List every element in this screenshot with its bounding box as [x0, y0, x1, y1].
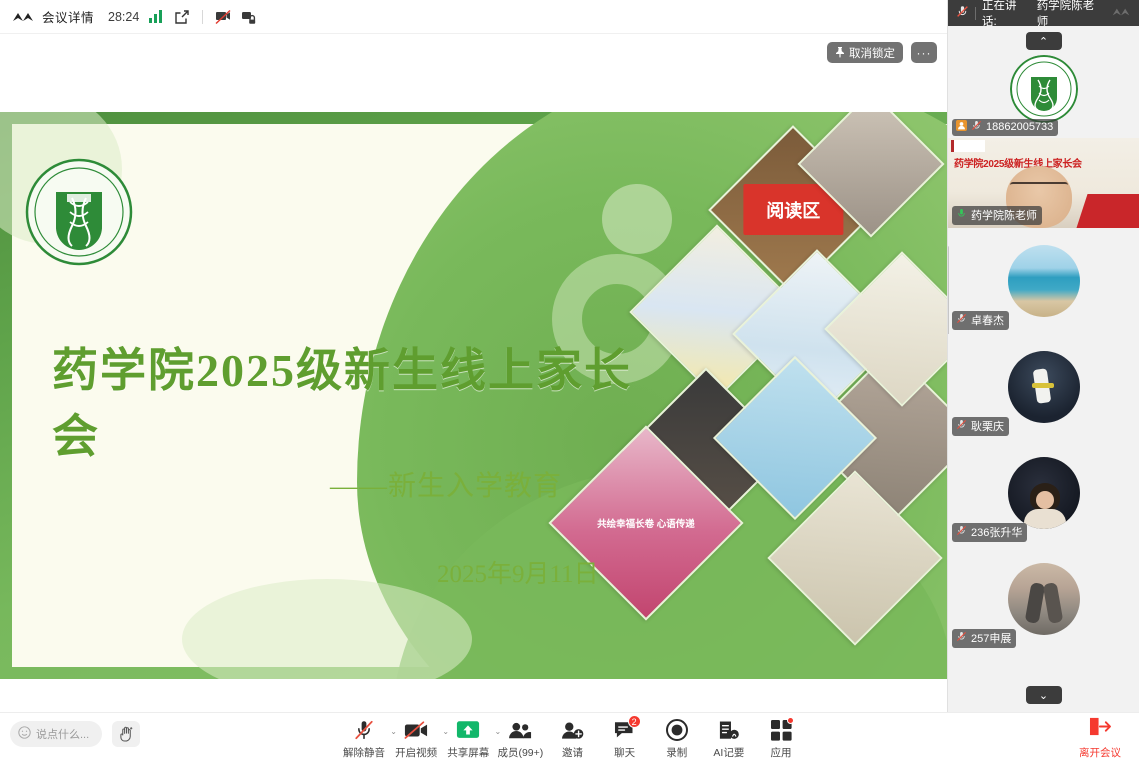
active-speaker-bar: 正在讲话: 药学院陈老师: [948, 0, 1139, 26]
apps-label: 应用: [771, 745, 792, 759]
say-something-placeholder: 说点什么...: [36, 726, 89, 742]
members-icon: [508, 718, 532, 742]
lock-screen-icon[interactable]: [240, 8, 258, 26]
ai-notes-label: AI记要: [713, 745, 744, 759]
mic-muted-icon: [956, 631, 967, 645]
say-something-input[interactable]: 说点什么...: [10, 721, 102, 747]
app-logo-icon: [12, 10, 34, 24]
emoji-icon: [18, 726, 31, 742]
mic-muted-icon: [956, 419, 967, 433]
video-watermark-logo: [951, 140, 985, 152]
martial-arts-avatar-image: [1008, 351, 1080, 423]
pin-icon: [835, 47, 845, 58]
meeting-window: 会议详情 28:24: [0, 0, 1139, 759]
record-icon: [666, 718, 688, 742]
more-options-button[interactable]: ···: [911, 42, 937, 63]
participant-name: 18862005733: [986, 121, 1053, 133]
meeting-timer: 28:24: [108, 10, 139, 24]
participant-tile[interactable]: 卓春杰: [948, 228, 1139, 334]
unmute-button[interactable]: ⌄ 解除静音: [340, 715, 388, 759]
mic-muted-icon: [353, 718, 375, 742]
cancel-lock-button[interactable]: 取消锁定: [827, 42, 903, 63]
chat-badge: 2: [628, 715, 641, 728]
top-bar: 会议详情 28:24: [0, 0, 947, 34]
university-logo-icon: [20, 158, 138, 266]
scroll-down-button[interactable]: ⌄: [1026, 686, 1062, 704]
raise-hand-icon: [119, 726, 134, 742]
participant-name: 药学院陈老师: [971, 207, 1037, 223]
record-button[interactable]: 录制: [653, 715, 701, 759]
avatar: [1008, 351, 1080, 423]
participant-tile[interactable]: 药学院2025级新生线上家长会 药学院陈老师: [948, 138, 1139, 228]
slide-date: 2025年9月11日: [437, 554, 599, 590]
camera-off-icon: [404, 718, 428, 742]
slide-canvas: 药学院2025级新生线上家长会 ——新生入学教育 2025年9月11日 阅读区 …: [12, 124, 947, 667]
banner-caption: 共绘幸福长卷 心语传递: [579, 456, 713, 590]
person-icon: [956, 120, 967, 134]
raise-hand-button[interactable]: [112, 721, 140, 747]
stage-controls: 取消锁定 ···: [827, 42, 937, 63]
leave-meeting-label: 离开会议: [1079, 745, 1121, 759]
meeting-controls: ⌄ 解除静音 ⌄ 开启视频: [340, 715, 805, 759]
mic-muted-small-icon: [956, 5, 969, 21]
invite-label: 邀请: [562, 745, 583, 759]
couple-avatar-image: [1008, 563, 1080, 635]
shared-slide[interactable]: 药学院2025级新生线上家长会 ——新生入学教育 2025年9月11日 阅读区 …: [0, 112, 947, 679]
participant-name: 236张升华: [971, 524, 1022, 540]
speaking-name: 药学院陈老师: [1037, 0, 1105, 29]
speaker-glasses: [1010, 182, 1068, 191]
record-label: 录制: [666, 745, 687, 759]
share-screen-label: 共享屏幕: [447, 745, 489, 759]
participant-name: 卓春杰: [971, 312, 1004, 328]
bottom-toolbar: 说点什么... ⌄ 解除静音: [0, 712, 1139, 759]
start-video-label: 开启视频: [395, 745, 437, 759]
toolbar-divider: [202, 10, 203, 24]
participant-panel: 正在讲话: 药学院陈老师 ⌃ ⌄: [947, 0, 1139, 712]
avatar: [1010, 55, 1078, 123]
apps-button[interactable]: 应用: [757, 715, 805, 759]
apps-notification-dot: [787, 717, 794, 724]
beach-avatar-image: [1008, 245, 1080, 317]
avatar: [1008, 563, 1080, 635]
participant-name-chip: 卓春杰: [952, 311, 1009, 330]
leave-meeting-button[interactable]: 离开会议: [1075, 716, 1125, 759]
ai-notes-icon: [717, 718, 740, 742]
leave-icon: [1088, 716, 1112, 742]
no-record-icon[interactable]: [214, 8, 232, 26]
signal-icon[interactable]: [147, 8, 165, 26]
slide-title: 药学院2025级新生线上家长会: [52, 334, 672, 466]
participant-name-chip: 药学院陈老师: [952, 206, 1042, 225]
slide-subtitle: ——新生入学教育: [330, 464, 562, 504]
speaking-label: 正在讲话:: [982, 0, 1031, 29]
app-logo-small-icon: [1111, 7, 1131, 20]
avatar: [1008, 245, 1080, 317]
participant-name-chip: 耿栗庆: [952, 417, 1009, 436]
participant-name-chip: 236张升华: [952, 523, 1027, 542]
mic-muted-icon: [956, 525, 967, 539]
cancel-lock-label: 取消锁定: [849, 45, 895, 61]
participant-name: 257申展: [971, 630, 1011, 646]
popout-icon[interactable]: [173, 8, 191, 26]
avatar: [1008, 457, 1080, 529]
invite-icon: [561, 718, 584, 742]
participant-name-chip: 18862005733: [952, 119, 1058, 136]
participant-name-chip: 257申展: [952, 629, 1016, 648]
unmute-label: 解除静音: [343, 745, 385, 759]
meeting-detail-label[interactable]: 会议详情: [42, 7, 94, 26]
speaking-divider: [975, 7, 976, 20]
portrait-avatar-image: [1008, 457, 1080, 529]
start-video-button[interactable]: ⌄ 开启视频: [392, 715, 440, 759]
share-screen-icon: [456, 718, 480, 742]
share-screen-button[interactable]: ⌄ 共享屏幕: [444, 715, 492, 759]
mic-muted-icon: [971, 120, 982, 134]
ai-notes-button[interactable]: AI记要: [705, 715, 753, 759]
chat-label: 聊天: [614, 745, 635, 759]
participant-tile[interactable]: 236张升华: [948, 440, 1139, 546]
mic-muted-icon: [956, 313, 967, 327]
participant-tiles[interactable]: 18862005733 药学院2025级新生线上家长会: [948, 26, 1139, 712]
participant-name: 耿栗庆: [971, 418, 1004, 434]
scroll-up-button[interactable]: ⌃: [1026, 32, 1062, 50]
participant-tile[interactable]: 257申展: [948, 546, 1139, 652]
mic-active-icon: [956, 208, 967, 222]
video-stage: 取消锁定 ···: [0, 34, 947, 712]
chat-button[interactable]: 2 聊天: [601, 715, 649, 759]
video-red-banner: [1076, 194, 1139, 228]
members-button[interactable]: 成员(99+): [496, 715, 544, 759]
participant-tile[interactable]: 耿栗庆: [948, 334, 1139, 440]
members-label: 成员(99+): [497, 745, 543, 759]
invite-button[interactable]: 邀请: [549, 715, 597, 759]
